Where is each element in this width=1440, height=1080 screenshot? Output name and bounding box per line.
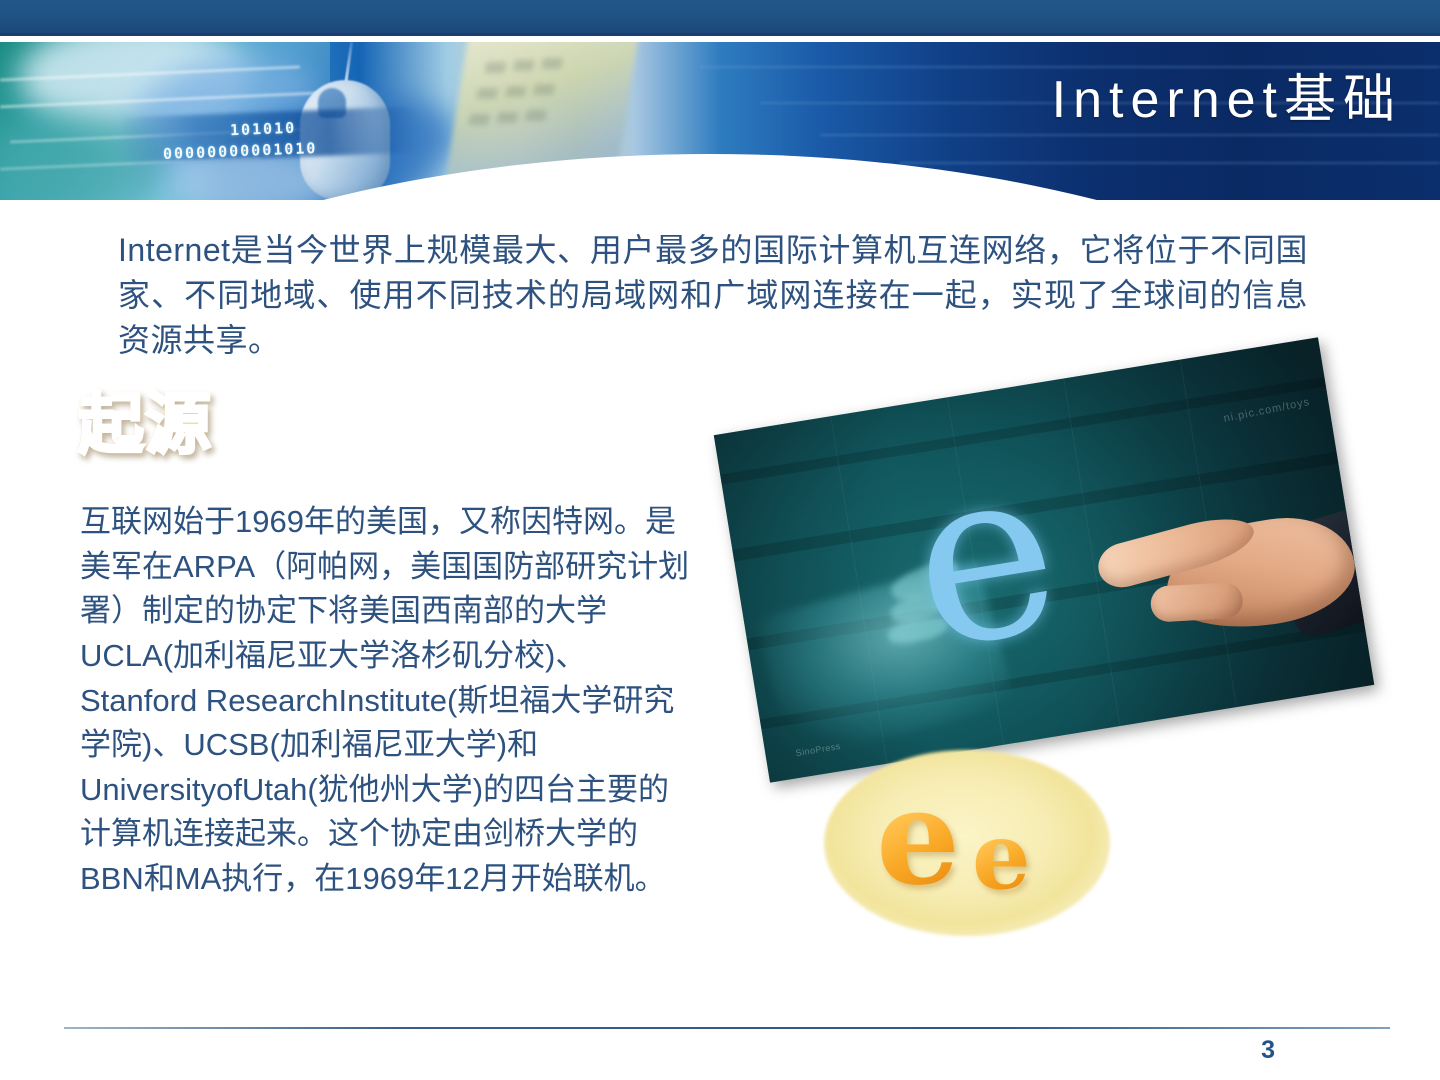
header-top-strip: [0, 0, 1440, 33]
photo-composition: e ni.pic.com/toys SinoPress e e: [718, 352, 1378, 782]
origin-body-paragraph: 互联网始于1969年的美国，又称因特网。是美军在ARPA（阿帕网，美国国防部研究…: [80, 500, 700, 902]
pointing-hand-graphic: [1071, 484, 1370, 667]
hand-touching-e-photo: e ni.pic.com/toys SinoPress: [714, 337, 1374, 782]
section-heading-origin: 起源: [78, 392, 212, 458]
gold-e-large: e: [876, 790, 960, 886]
gold-e-small: e: [972, 822, 1031, 890]
intro-paragraph: Internet是当今世界上规模最大、用户最多的国际计算机互连网络，它将位于不同…: [118, 228, 1308, 362]
e-logo-glyph: e: [904, 466, 1101, 671]
page-title: Internet基础: [1052, 74, 1402, 126]
gold-ellipse-backdrop: [824, 750, 1110, 936]
slide: 101010 00000000001010 Internet基础 Interne…: [0, 0, 1440, 1080]
page-number: 3: [0, 1036, 1440, 1065]
slide-header: 101010 00000000001010 Internet基础: [0, 0, 1440, 200]
binary-digits-row-1: 101010: [230, 119, 297, 140]
footer-divider: [64, 1027, 1390, 1029]
thumb-graphic: [1150, 582, 1244, 623]
